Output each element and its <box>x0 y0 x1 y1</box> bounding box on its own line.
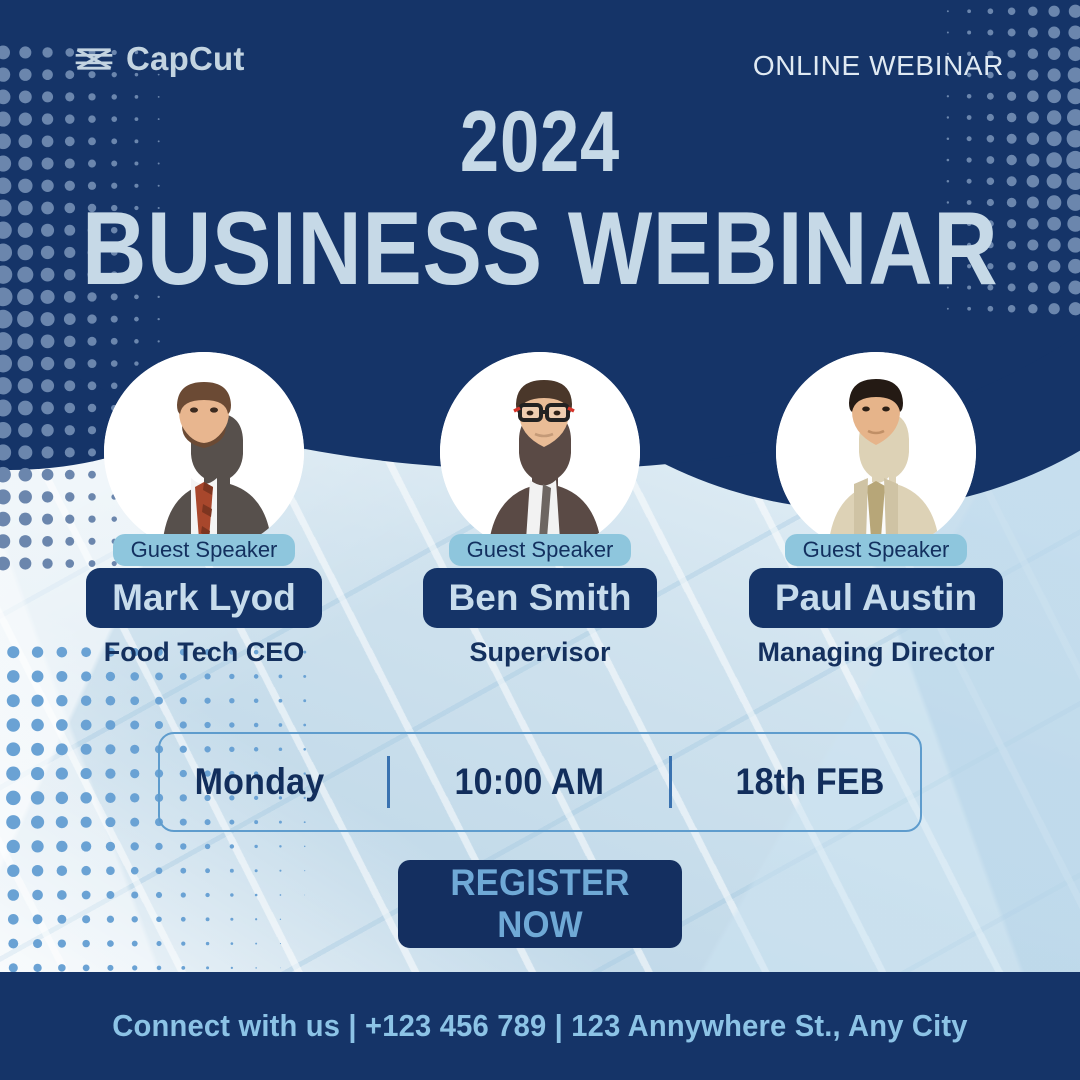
speaker-name: Mark Lyod <box>112 577 296 618</box>
register-now-button[interactable]: REGISTER NOW <box>398 860 682 948</box>
capcut-wordmark: CapCut <box>126 40 245 78</box>
speaker-role: Supervisor <box>469 637 610 668</box>
avatar-paul-austin <box>776 352 976 552</box>
capcut-hourglass-icon <box>74 42 114 76</box>
footer-contact-bar: Connect with us | +123 456 789 | 123 Ann… <box>0 972 1080 1080</box>
speaker-card-ben-smith: Guest Speaker Ben Smith Supervisor <box>380 352 700 668</box>
headline-block: 2024 BUSINESS WEBINAR <box>0 96 1080 304</box>
speaker-card-paul-austin: Guest Speaker Paul Austin Managing Direc… <box>716 352 1036 668</box>
speaker-name: Paul Austin <box>775 577 977 618</box>
event-time: 10:00 AM <box>455 761 605 803</box>
speaker-role: Food Tech CEO <box>104 637 305 668</box>
avatar-mark-lyod <box>104 352 304 552</box>
nameplate-mark-lyod: Mark Lyod <box>86 568 322 628</box>
event-date: 18th FEB <box>736 761 885 803</box>
nameplate-paul-austin: Paul Austin <box>749 568 1003 628</box>
event-day: Monday <box>194 761 324 803</box>
avatar-ben-smith <box>440 352 640 552</box>
badge-guest-speaker: Guest Speaker <box>449 534 632 566</box>
speaker-photo-ben-smith <box>440 352 640 552</box>
details-divider-1 <box>387 756 390 808</box>
speaker-card-mark-lyod: Guest Speaker Mark Lyod Food Tech CEO <box>44 352 364 668</box>
speaker-photo-mark-lyod <box>104 352 304 552</box>
nameplate-ben-smith: Ben Smith <box>423 568 658 628</box>
webinar-poster: CapCut ONLINE WEBINAR 2024 BUSINESS WEBI… <box>0 0 1080 1080</box>
headline-title: BUSINESS WEBINAR <box>76 195 1005 304</box>
speaker-role: Managing Director <box>757 637 994 668</box>
speaker-name: Ben Smith <box>449 577 632 618</box>
headline-year: 2024 <box>97 96 983 189</box>
badge-guest-speaker: Guest Speaker <box>113 534 296 566</box>
speakers-row: Guest Speaker Mark Lyod Food Tech CEO <box>0 352 1080 668</box>
footer-contact-text: Connect with us | +123 456 789 | 123 Ann… <box>112 1008 967 1044</box>
capcut-logo: CapCut <box>74 40 245 78</box>
eyebrow-label: ONLINE WEBINAR <box>753 50 1004 82</box>
speaker-photo-paul-austin <box>776 352 976 552</box>
badge-guest-speaker: Guest Speaker <box>785 534 968 566</box>
details-divider-2 <box>669 756 672 808</box>
register-now-label: REGISTER NOW <box>407 862 674 946</box>
event-details-bar: Monday 10:00 AM 18th FEB <box>158 732 922 832</box>
